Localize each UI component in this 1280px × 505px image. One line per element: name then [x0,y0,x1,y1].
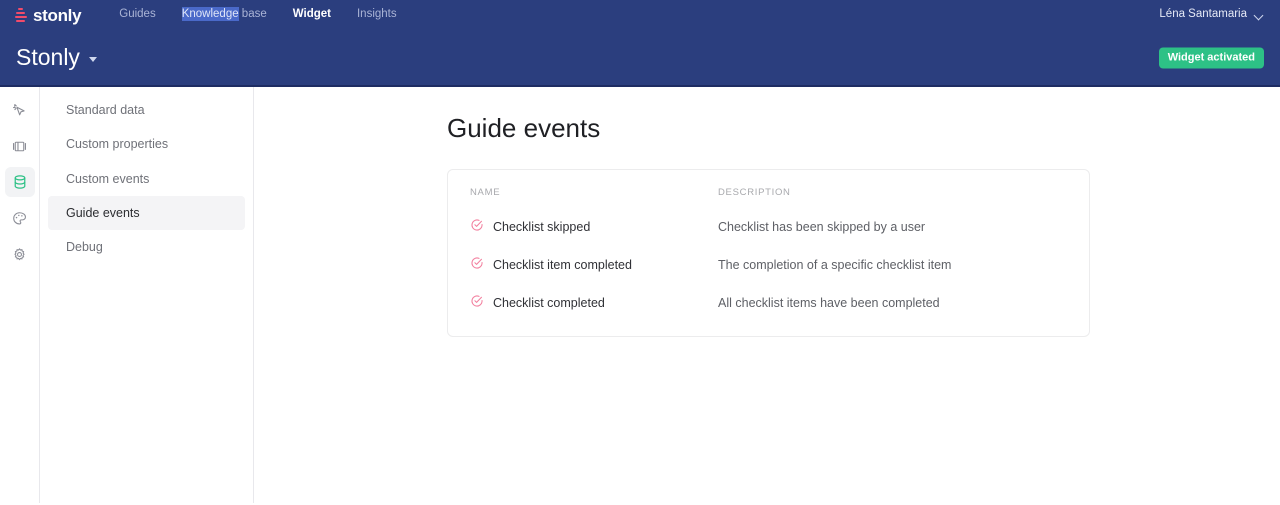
nav-link-knowledge-base[interactable]: Knowledge base [182,9,267,21]
cursor-click-icon [11,102,28,119]
check-circle-icon [470,294,484,312]
table-bottom-spacer [448,322,1089,336]
check-circle-icon [470,218,484,236]
nav-link-guides[interactable]: Guides [119,9,155,21]
guide-events-table-card: NAME DESCRIPTION Checklist skipped Check… [447,169,1090,337]
app-body: Standard data Custom properties Custom e… [0,87,1280,503]
column-header-name: NAME [470,188,718,198]
sidebar-item-custom-properties[interactable]: Custom properties [48,127,245,161]
workspace-name: Stonly [16,46,80,69]
gear-icon [11,246,28,263]
rail-item-data[interactable] [5,167,35,197]
chevron-down-icon [1255,11,1264,20]
nav-link-insights[interactable]: Insights [357,9,397,21]
cell-name: Checklist item completed [470,256,718,274]
primary-nav: Guides Knowledge base Widget Insights [119,9,396,21]
stonly-logo-icon [14,8,27,23]
table-row[interactable]: Checklist skipped Checklist has been ski… [448,208,1089,246]
status-badge: Widget activated [1159,47,1264,68]
user-name-label: Léna Santamaria [1159,9,1247,21]
workspace-bar: Stonly Widget activated [0,30,1280,87]
cell-description: All checklist items have been completed [718,295,1067,311]
nav-link-widget[interactable]: Widget [293,9,331,21]
rail-item-cursor[interactable] [5,95,35,125]
database-icon [11,173,29,191]
table-row[interactable]: Checklist item completed The completion … [448,246,1089,284]
column-header-description: DESCRIPTION [718,188,1067,198]
brand-name: stonly [33,7,81,24]
cell-name: Checklist completed [470,294,718,312]
caret-down-icon [89,57,97,62]
icon-rail [0,87,40,503]
nav-link-knowledge-base-rest-text: base [239,8,267,20]
top-navigation-bar: stonly Guides Knowledge base Widget Insi… [0,0,1280,30]
row-name-label: Checklist completed [493,295,605,311]
settings-sidebar: Standard data Custom properties Custom e… [40,87,254,503]
table-row[interactable]: Checklist completed All checklist items … [448,284,1089,322]
rail-item-appearance[interactable] [5,203,35,233]
sidebar-item-custom-events[interactable]: Custom events [48,162,245,196]
cell-description: Checklist has been skipped by a user [718,219,1067,235]
workspace-selector[interactable]: Stonly [16,46,97,69]
cell-name: Checklist skipped [470,218,718,236]
check-circle-icon [470,256,484,274]
user-menu[interactable]: Léna Santamaria [1159,0,1264,30]
brand-logo[interactable]: stonly [14,7,81,24]
cell-description: The completion of a specific checklist i… [718,257,1067,273]
rail-item-settings[interactable] [5,239,35,269]
page-title: Guide events [447,113,1280,144]
sidebar-item-standard-data[interactable]: Standard data [48,93,245,127]
table-header-row: NAME DESCRIPTION [448,170,1089,208]
rail-item-layout[interactable] [5,131,35,161]
columns-layout-icon [11,138,28,155]
palette-icon [11,210,28,227]
row-name-label: Checklist item completed [493,257,632,273]
nav-link-knowledge-base-selected-text: Knowledge [182,7,239,21]
row-name-label: Checklist skipped [493,219,590,235]
sidebar-item-guide-events[interactable]: Guide events [48,196,245,230]
main-content: Guide events NAME DESCRIPTION Checklist … [254,87,1280,503]
sidebar-item-debug[interactable]: Debug [48,230,245,264]
